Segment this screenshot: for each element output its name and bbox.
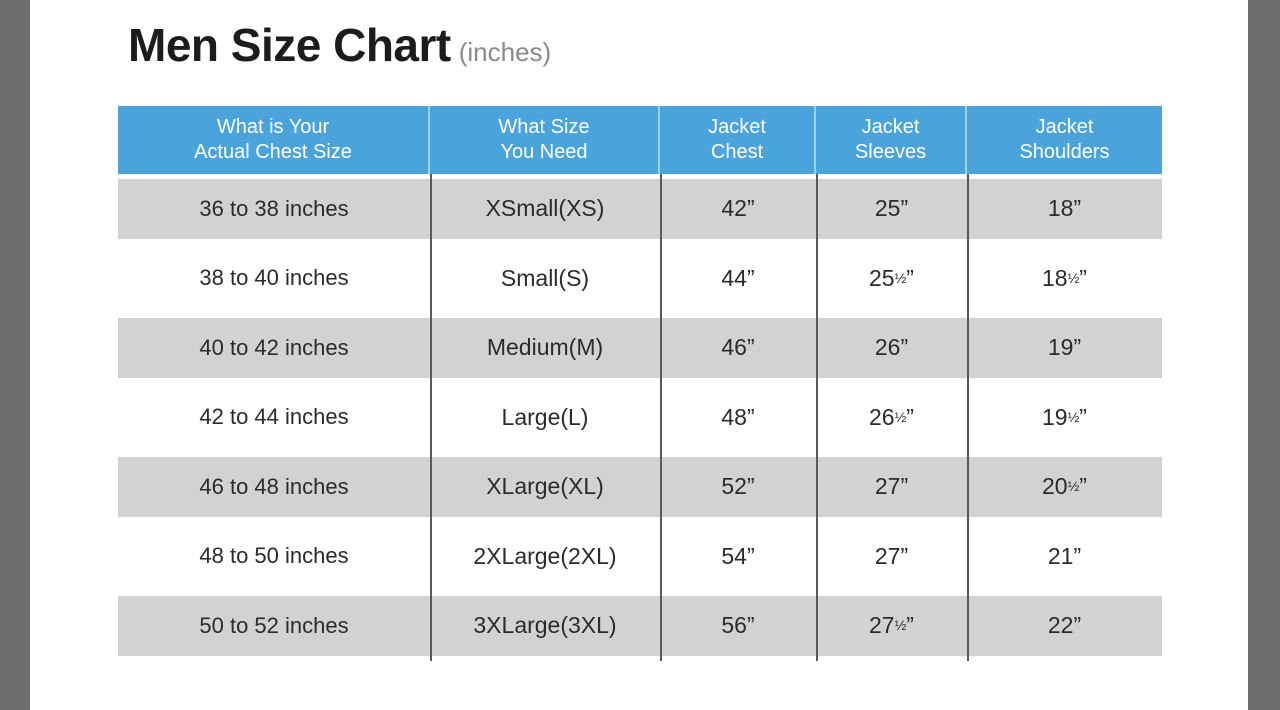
cell-chest-range: 50 to 52 inches: [118, 591, 430, 661]
cell-value: 27½”: [869, 612, 914, 639]
cell-value: 19½”: [1042, 404, 1087, 431]
cell-value: 42 to 44 inches: [199, 404, 348, 430]
table-body: 36 to 38 inches XSmall(XS) 42” 25” 18” 3…: [118, 174, 1162, 661]
cell-value: Small(S): [501, 265, 589, 292]
cell-value: 25½”: [869, 265, 914, 292]
table-row: 38 to 40 inches Small(S) 44” 25½” 18½”: [118, 244, 1162, 314]
cell-jacket-chest: 42”: [660, 174, 816, 244]
table-row: 40 to 42 inches Medium(M) 46” 26” 19”: [118, 313, 1162, 383]
column-header-jacket-shoulders: Jacket Shoulders: [967, 106, 1162, 174]
cell-size: 2XLarge(2XL): [430, 522, 660, 592]
cell-jacket-shoulders: 21”: [967, 522, 1162, 592]
cell-value: 36 to 38 inches: [199, 196, 348, 222]
column-header-line2: Sleeves: [855, 140, 926, 165]
cell-jacket-chest: 56”: [660, 591, 816, 661]
page-title-main: Men Size Chart: [128, 19, 451, 71]
cell-chest-range: 46 to 48 inches: [118, 452, 430, 522]
cell-value: 46 to 48 inches: [199, 474, 348, 500]
table-row: 50 to 52 inches 3XLarge(3XL) 56” 27½” 22…: [118, 591, 1162, 661]
cell-value: Large(L): [502, 404, 589, 431]
cell-jacket-shoulders: 22”: [967, 591, 1162, 661]
cell-value: 48”: [721, 404, 754, 431]
cell-value: 27”: [875, 473, 908, 500]
cell-value: XSmall(XS): [486, 195, 605, 222]
cell-jacket-sleeves: 25½”: [816, 244, 967, 314]
column-header-line1: What Size: [498, 115, 589, 140]
cell-value: 40 to 42 inches: [199, 335, 348, 361]
cell-value: 56”: [721, 612, 754, 639]
size-chart-page: Men Size Chart(inches) What is Your Actu…: [30, 0, 1248, 710]
cell-value: 44”: [721, 265, 754, 292]
cell-jacket-sleeves: 27”: [816, 452, 967, 522]
cell-jacket-chest: 54”: [660, 522, 816, 592]
cell-value: 26½”: [869, 404, 914, 431]
cell-chest-range: 36 to 38 inches: [118, 174, 430, 244]
column-header-line2: Actual Chest Size: [194, 140, 352, 165]
cell-value: 54”: [721, 543, 754, 570]
cell-value: 46”: [721, 334, 754, 361]
cell-value: 52”: [721, 473, 754, 500]
cell-jacket-sleeves: 27½”: [816, 591, 967, 661]
column-divider-1: [430, 174, 432, 661]
cell-jacket-sleeves: 26”: [816, 313, 967, 383]
cell-jacket-sleeves: 26½”: [816, 383, 967, 453]
table-row: 36 to 38 inches XSmall(XS) 42” 25” 18”: [118, 174, 1162, 244]
table-header-row: What is Your Actual Chest Size What Size…: [118, 106, 1162, 174]
cell-chest-range: 48 to 50 inches: [118, 522, 430, 592]
cell-value: 27”: [875, 543, 908, 570]
cell-value: XLarge(XL): [486, 473, 604, 500]
cell-size: XSmall(XS): [430, 174, 660, 244]
column-header-line1: Jacket: [708, 115, 766, 140]
column-header-size-you-need: What Size You Need: [430, 106, 660, 174]
cell-value: 22”: [1048, 612, 1081, 639]
cell-value: 2XLarge(2XL): [473, 543, 616, 570]
column-header-actual-chest-size: What is Your Actual Chest Size: [118, 106, 430, 174]
page-title-unit: (inches): [459, 37, 551, 67]
size-chart-table: What is Your Actual Chest Size What Size…: [118, 106, 1162, 661]
cell-jacket-chest: 48”: [660, 383, 816, 453]
column-divider-3: [816, 174, 818, 661]
cell-chest-range: 38 to 40 inches: [118, 244, 430, 314]
table-row: 42 to 44 inches Large(L) 48” 26½” 19½”: [118, 383, 1162, 453]
cell-jacket-sleeves: 25”: [816, 174, 967, 244]
cell-jacket-chest: 44”: [660, 244, 816, 314]
letterbox-left: [0, 0, 30, 710]
cell-jacket-chest: 52”: [660, 452, 816, 522]
page-title: Men Size Chart(inches): [128, 18, 551, 72]
column-header-line1: Jacket: [862, 115, 920, 140]
cell-size: Large(L): [430, 383, 660, 453]
cell-size: Small(S): [430, 244, 660, 314]
column-header-line1: Jacket: [1036, 115, 1094, 140]
table-row: 46 to 48 inches XLarge(XL) 52” 27” 20½”: [118, 452, 1162, 522]
cell-jacket-sleeves: 27”: [816, 522, 967, 592]
cell-size: Medium(M): [430, 313, 660, 383]
table-row: 48 to 50 inches 2XLarge(2XL) 54” 27” 21”: [118, 522, 1162, 592]
cell-jacket-shoulders: 19½”: [967, 383, 1162, 453]
column-header-line2: Chest: [711, 140, 763, 165]
cell-value: 26”: [875, 334, 908, 361]
cell-value: 18½”: [1042, 265, 1087, 292]
column-header-line2: Shoulders: [1019, 140, 1109, 165]
cell-chest-range: 40 to 42 inches: [118, 313, 430, 383]
column-divider-2: [660, 174, 662, 661]
column-header-jacket-chest: Jacket Chest: [660, 106, 816, 174]
cell-value: 3XLarge(3XL): [473, 612, 616, 639]
cell-jacket-shoulders: 20½”: [967, 452, 1162, 522]
column-divider-4: [967, 174, 969, 661]
column-header-jacket-sleeves: Jacket Sleeves: [816, 106, 967, 174]
cell-value: 42”: [721, 195, 754, 222]
column-header-line1: What is Your: [217, 115, 329, 140]
cell-value: 50 to 52 inches: [199, 613, 348, 639]
cell-size: XLarge(XL): [430, 452, 660, 522]
cell-chest-range: 42 to 44 inches: [118, 383, 430, 453]
cell-jacket-chest: 46”: [660, 313, 816, 383]
column-header-line2: You Need: [500, 140, 587, 165]
cell-value: 38 to 40 inches: [199, 265, 348, 291]
cell-value: 21”: [1048, 543, 1081, 570]
cell-value: 20½”: [1042, 473, 1087, 500]
cell-jacket-shoulders: 18½”: [967, 244, 1162, 314]
letterbox-right: [1248, 0, 1280, 710]
cell-value: Medium(M): [487, 334, 603, 361]
cell-value: 18”: [1048, 195, 1081, 222]
cell-jacket-shoulders: 19”: [967, 313, 1162, 383]
cell-value: 48 to 50 inches: [199, 543, 348, 569]
cell-value: 25”: [875, 195, 908, 222]
cell-size: 3XLarge(3XL): [430, 591, 660, 661]
cell-jacket-shoulders: 18”: [967, 174, 1162, 244]
cell-value: 19”: [1048, 334, 1081, 361]
